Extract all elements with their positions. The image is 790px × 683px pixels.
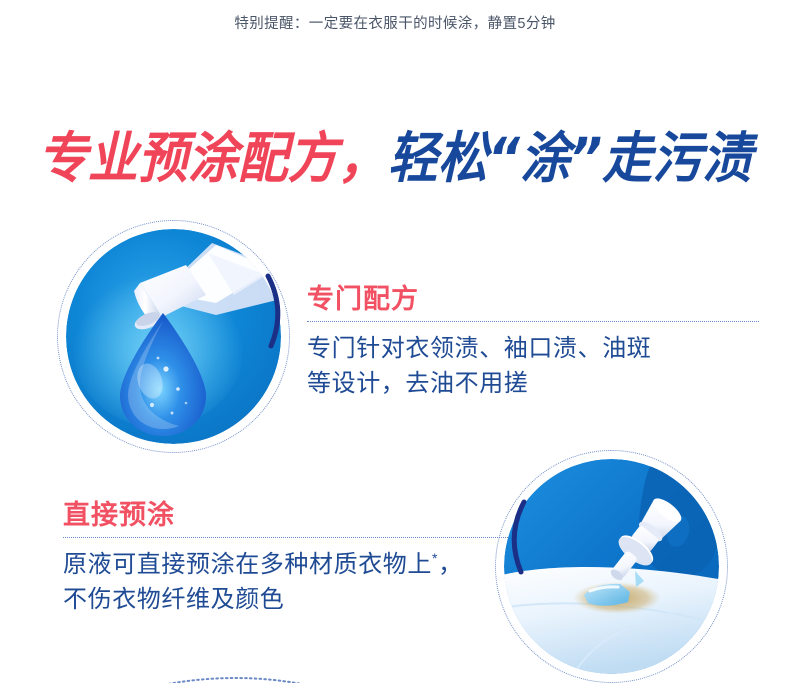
feature-divider [63, 537, 508, 538]
reminder-text: 特别提醒：一定要在衣服干的时候涂，静置5分钟 [234, 16, 555, 32]
feature-body-text: 原液可直接预涂在多种材质衣物上 [63, 551, 432, 578]
feature-body-line: 原液可直接预涂在多种材质衣物上*， [63, 547, 508, 582]
reminder-bar: 特别提醒：一定要在衣服干的时候涂，静置5分钟 [0, 14, 790, 34]
feature-body-line: 等设计，去油不用搓 [307, 366, 759, 401]
feature-divider [307, 321, 759, 322]
page-title: 专业预涂配方，轻松“涂”走污渍 [0, 124, 790, 192]
partial-dotted-circle-bottom [120, 655, 350, 683]
feature-title-special-formula: 专门配方 [307, 284, 759, 316]
page-title-red-part: 专业预涂配方， [38, 126, 388, 190]
feature-body-direct-pretreat: 原液可直接预涂在多种材质衣物上*， 不伤衣物纤维及颜色 [63, 547, 508, 617]
feature-block-direct-pretreat: 直接预涂 原液可直接预涂在多种材质衣物上*， 不伤衣物纤维及颜色 [63, 500, 508, 617]
feature-body-text-tail: ， [438, 551, 463, 578]
droplet-with-bottle-nozzle-icon [66, 229, 281, 444]
product-feature-page: 特别提醒：一定要在衣服干的时候涂，静置5分钟 专业预涂配方，轻松“涂”走污渍 [0, 0, 790, 683]
page-title-blue-part: 轻松“涂”走污渍 [388, 126, 752, 190]
feature-title-direct-pretreat: 直接预涂 [63, 500, 508, 532]
feature-block-special-formula: 专门配方 专门针对衣领渍、袖口渍、油斑 等设计，去油不用搓 [307, 284, 759, 401]
feature-body-line: 不伤衣物纤维及颜色 [63, 582, 508, 617]
feature-body-special-formula: 专门针对衣领渍、袖口渍、油斑 等设计，去油不用搓 [307, 331, 759, 401]
connector-arc-special-formula [252, 272, 304, 350]
feature-image-special-formula [66, 229, 281, 444]
feature-body-line: 专门针对衣领渍、袖口渍、油斑 [307, 331, 759, 366]
